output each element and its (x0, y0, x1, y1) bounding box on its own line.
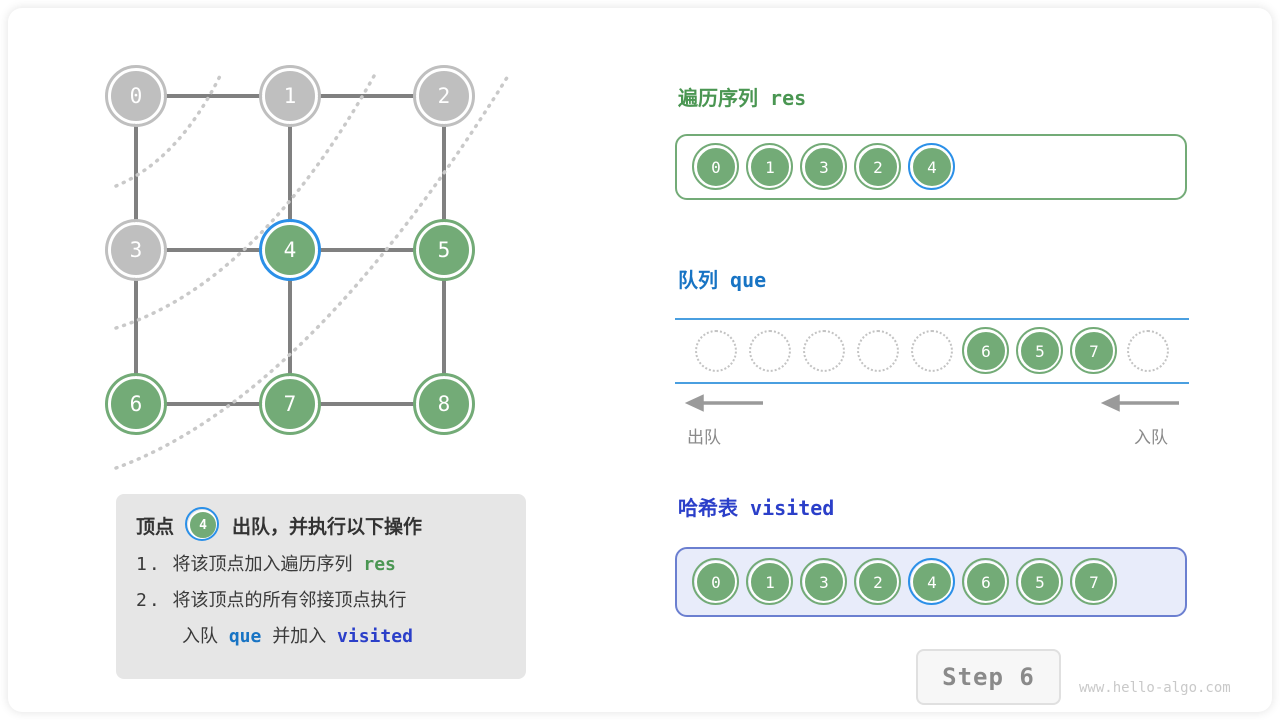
caption-keyword-visited: visited (337, 626, 413, 647)
visited-cell-4: 4 (911, 561, 953, 603)
graph-node-label: 2 (438, 84, 451, 108)
graph-node-7: 7 (262, 376, 318, 432)
que-cell-ring (857, 330, 899, 372)
graph-node-6: 6 (108, 376, 164, 432)
res-title: 遍历序列 res (678, 82, 806, 111)
que-cell-2 (803, 330, 845, 372)
visited-cell-label: 0 (711, 573, 721, 592)
visited-cell-label: 6 (981, 573, 991, 592)
caption-node-badge: 4 (188, 510, 218, 540)
caption-head-suffix: 出队，并执行以下操作 (232, 512, 422, 539)
caption-heading: 顶点 4 出队，并执行以下操作 (136, 510, 506, 540)
enqueue-label: 入队 (1134, 423, 1168, 448)
visited-cell-3: 2 (857, 561, 899, 603)
que-cell-ring (911, 330, 953, 372)
que-cell-0 (695, 330, 737, 372)
que-cell-label: 7 (1089, 342, 1099, 361)
graph-edges-svg (108, 68, 548, 488)
que-cell-5: 6 (965, 330, 1007, 372)
visited-cell-label: 4 (927, 573, 937, 592)
graph-node-3: 3 (108, 222, 164, 278)
caption-head-prefix: 顶点 (136, 512, 174, 539)
caption-keyword-que: que (229, 626, 262, 647)
visited-cell-2: 3 (803, 561, 845, 603)
dequeue-arrow-head (689, 397, 702, 409)
caption-keyword-res: res (363, 554, 396, 575)
caption-step-1-number: 1. (136, 554, 162, 575)
dequeue-label: 出队 (687, 423, 721, 448)
caption-step-2: 2. 将该顶点的所有邻接顶点执行 (136, 586, 506, 612)
visited-cell-5: 6 (965, 561, 1007, 603)
watermark: www.hello-algo.com (1079, 680, 1231, 696)
que-cell-7: 7 (1073, 330, 1115, 372)
res-cell-0: 0 (695, 146, 737, 188)
res-cell-label: 2 (873, 158, 883, 177)
step-badge: Step 6 (916, 649, 1061, 705)
graph-node-label: 5 (438, 238, 451, 262)
visited-cell-1: 1 (749, 561, 791, 603)
res-cell-2: 3 (803, 146, 845, 188)
graph-node-5: 5 (416, 222, 472, 278)
graph-node-label: 0 (130, 84, 143, 108)
caption-step-2-cont: 入队 que 并加入 visited (136, 622, 506, 648)
visited-cell-7: 7 (1073, 561, 1115, 603)
que-cell-1 (749, 330, 791, 372)
res-cell-label: 3 (819, 158, 829, 177)
que-title: 队列 que (678, 264, 766, 293)
caption-step-1-text: 将该顶点加入遍历序列 (173, 554, 353, 575)
graph-node-label: 7 (284, 392, 297, 416)
graph-node-label: 6 (130, 392, 143, 416)
visited-cell-label: 3 (819, 573, 829, 592)
que-cell-ring (695, 330, 737, 372)
que-cell-ring (803, 330, 845, 372)
que-cell-ring (749, 330, 791, 372)
visited-cell-0: 0 (695, 561, 737, 603)
res-cell-label: 1 (765, 158, 775, 177)
res-cell-label: 0 (711, 158, 721, 177)
que-cell-8 (1127, 330, 1169, 372)
caption-enqueue-text: 入队 (182, 626, 218, 647)
que-cell-3 (857, 330, 899, 372)
visited-cell-6: 5 (1019, 561, 1061, 603)
visited-cell-label: 7 (1089, 573, 1099, 592)
res-cell-1: 1 (749, 146, 791, 188)
graph-node-8: 8 (416, 376, 472, 432)
caption-join-text: 并加入 (272, 626, 326, 647)
res-cell-4: 4 (911, 146, 953, 188)
graph-node-2: 2 (416, 68, 472, 124)
graph-node-label: 3 (130, 238, 143, 262)
que-cell-ring (1127, 330, 1169, 372)
visited-title: 哈希表 visited (678, 492, 834, 521)
graph-diagram: 012345678 (108, 68, 548, 488)
graph-node-1: 1 (262, 68, 318, 124)
que-cell-label: 6 (981, 342, 991, 361)
caption-step-1: 1. 将该顶点加入遍历序列 res (136, 550, 506, 576)
caption-step-2-text: 将该顶点的所有邻接顶点执行 (173, 590, 407, 611)
que-arrows (675, 393, 1189, 413)
enqueue-arrow-head (1105, 397, 1118, 409)
res-cell-label: 4 (927, 158, 937, 177)
visited-cell-label: 1 (765, 573, 775, 592)
graph-node-4: 4 (262, 222, 318, 278)
graph-node-label: 8 (438, 392, 451, 416)
res-cell-3: 2 (857, 146, 899, 188)
que-cell-6: 5 (1019, 330, 1061, 372)
visited-cell-label: 2 (873, 573, 883, 592)
que-cell-label: 5 (1035, 342, 1045, 361)
visited-cell-label: 5 (1035, 573, 1045, 592)
caption-step-2-number: 2. (136, 590, 162, 611)
caption-box: 顶点 4 出队，并执行以下操作 1. 将该顶点加入遍历序列 res 2. 将该顶… (116, 494, 526, 679)
graph-node-0: 0 (108, 68, 164, 124)
page-card: 012345678 遍历序列 res 01324 队列 que 657 出队 入… (8, 8, 1272, 712)
que-cell-4 (911, 330, 953, 372)
graph-node-label: 1 (284, 84, 297, 108)
graph-node-label: 4 (284, 238, 297, 262)
